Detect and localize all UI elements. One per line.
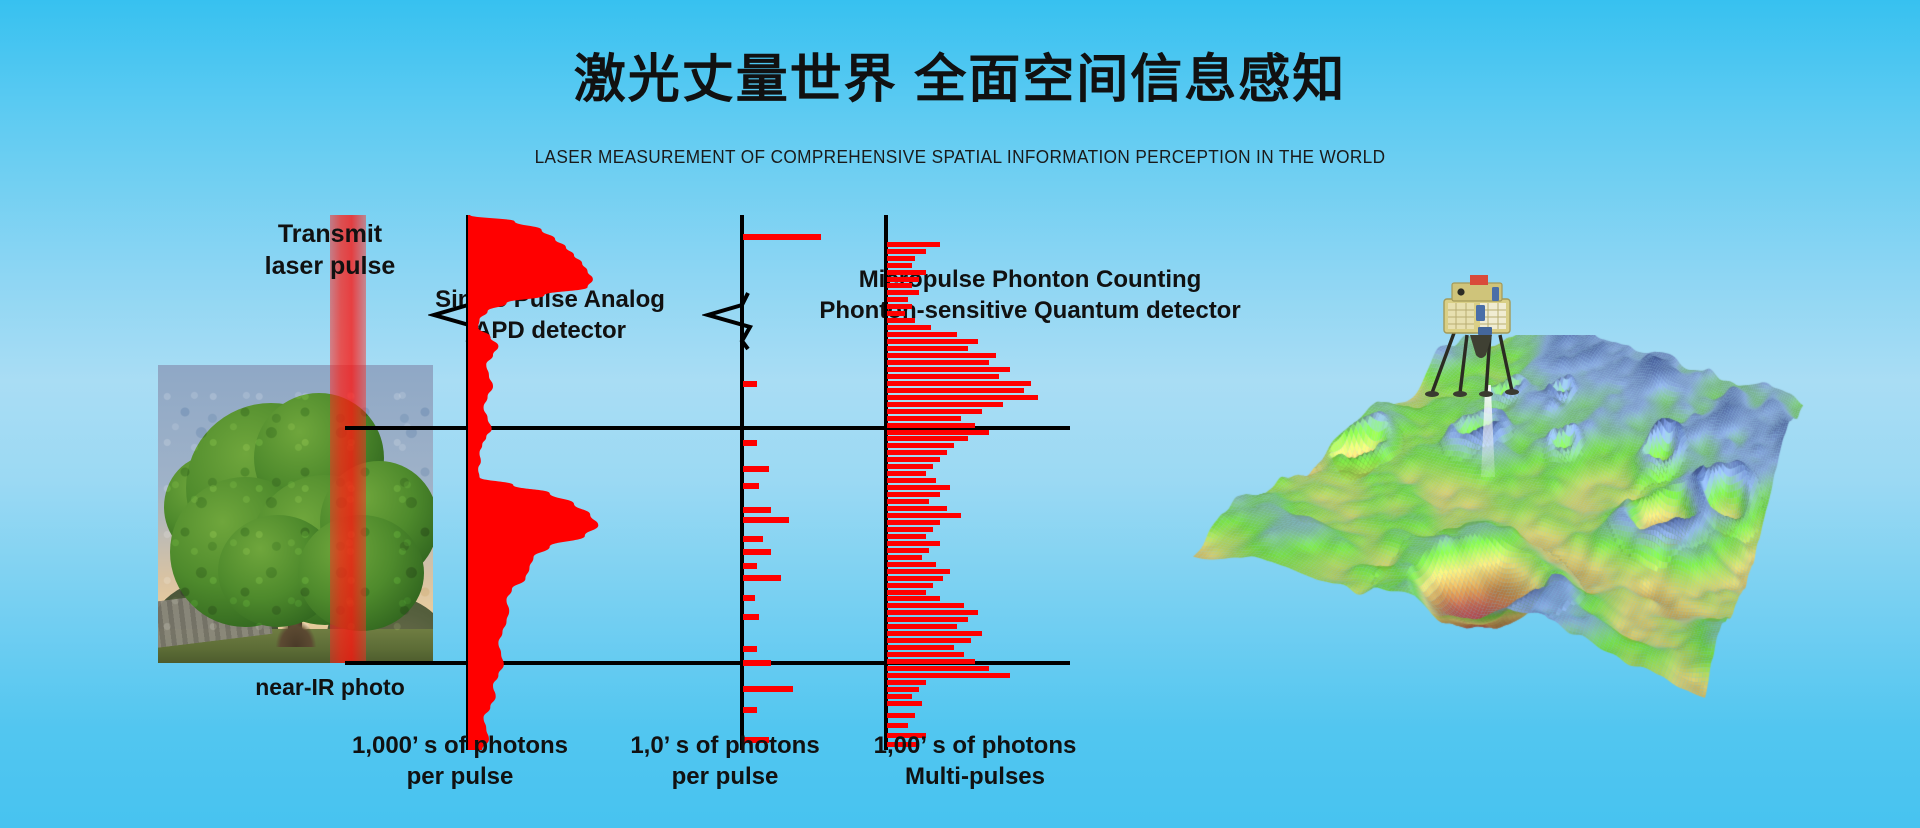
photon-count-bar [887,506,947,511]
photon-count-bar [887,562,936,567]
photon-count-bar [887,590,926,595]
photon-count-bar [887,603,964,608]
photon-count-bar [887,723,908,728]
photon-count-bar [887,325,931,330]
photon-count-bar [887,346,968,351]
photon-count-bar [887,631,982,636]
photon-count-bar [887,680,926,685]
photon-count-bar [887,297,908,302]
photon-count-bar [887,311,905,316]
photon-count-bar [887,520,940,525]
photon-count-bar [887,457,940,462]
photon-count-bar [887,610,978,615]
photon-count-bar [887,624,957,629]
photon-count-bar [887,701,922,706]
photon-count-bar [887,263,912,268]
photon-count-bar [887,374,999,379]
photon-count-bar [887,687,919,692]
photon-count-bar [887,242,940,247]
photon-count-bar [887,478,936,483]
photon-count-bar [887,583,933,588]
photon-count-bar [887,499,929,504]
photon-count-bar [887,256,915,261]
photon-count-bar [887,277,919,282]
photon-count-bar [887,339,978,344]
photon-count-bar [887,645,954,650]
photon-count-bar [887,367,1010,372]
photon-count-bar [887,381,1031,386]
photon-count-bar [887,290,919,295]
photon-count-bar [887,270,926,275]
photon-count-bar [887,617,968,622]
photon-count-bar [887,416,961,421]
photon-count-bar [887,304,912,309]
photon-count-bar [887,436,968,441]
photon-count-bar [887,659,975,664]
photon-count-bar [887,713,915,718]
photon-count-bar [887,464,933,469]
photon-count-bar [887,569,950,574]
photon-count-bar [887,430,989,435]
photon-count-bar [887,318,915,323]
photon-count-bar [887,527,933,532]
photon-count-bar [887,471,926,476]
photon-count-bar [887,666,989,671]
photon-count-bar [887,596,940,601]
photon-count-bar [887,249,926,254]
photon-count-bar [887,638,971,643]
photon-count-bar [887,450,947,455]
photon-count-bar [887,443,954,448]
photon-count-bar [887,694,912,699]
photon-count-bar [887,673,1010,678]
photon-count-bar [887,513,961,518]
photon-count-bar [887,388,1024,393]
photon-count-bar [887,395,1038,400]
footer-photons-per-pulse-1000s: 1,000’ s of photons per pulse [310,730,610,792]
photon-count-bar [887,353,996,358]
footer-photons-per-pulse-10s: 1,0’ s of photons per pulse [590,730,860,792]
photon-count-bar [887,534,926,539]
footer-photons-multipulse-100s: 1,00’ s of photons Multi-pulses [830,730,1120,792]
photon-count-bar [887,555,922,560]
photon-count-bar [887,332,957,337]
photon-count-bar [887,541,940,546]
photon-count-bar [887,409,982,414]
photon-count-bar [887,360,989,365]
photon-count-bar [887,548,929,553]
poster-stage: 激光丈量世界 全面空间信息感知 LASER MEASUREMENT OF COM… [0,0,1920,828]
photon-count-bar [887,283,912,288]
photon-count-bar [887,576,943,581]
photon-count-bar [887,402,1003,407]
photon-count-bar [887,423,975,428]
photon-count-bar [887,485,950,490]
lunar-landing-scene [1185,275,1805,755]
photon-count-bar [887,492,940,497]
photon-count-bar [887,652,964,657]
lunar-lander [1420,275,1540,405]
